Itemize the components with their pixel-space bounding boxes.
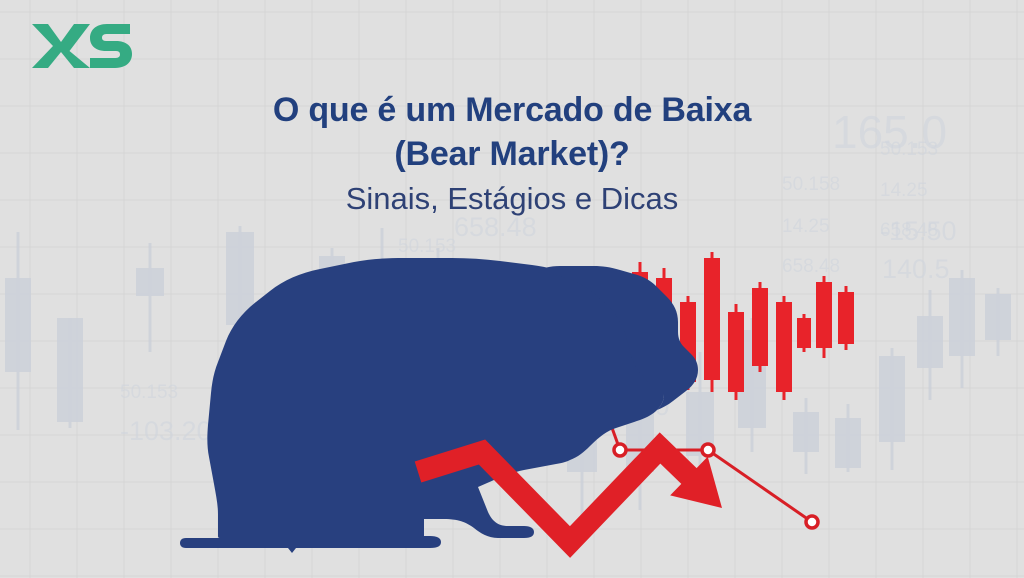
bear-market-banner: 165.050.15814.25-15.50140.5658.4850.1531… [0,0,1024,578]
foreground-layer [0,0,1024,578]
trend-line-marker [614,444,626,456]
bear-silhouette [180,258,698,553]
trend-line-marker [806,516,818,528]
xs-logo[interactable] [30,20,134,72]
trend-line-marker [702,444,714,456]
xs-logo-icon [30,20,134,72]
